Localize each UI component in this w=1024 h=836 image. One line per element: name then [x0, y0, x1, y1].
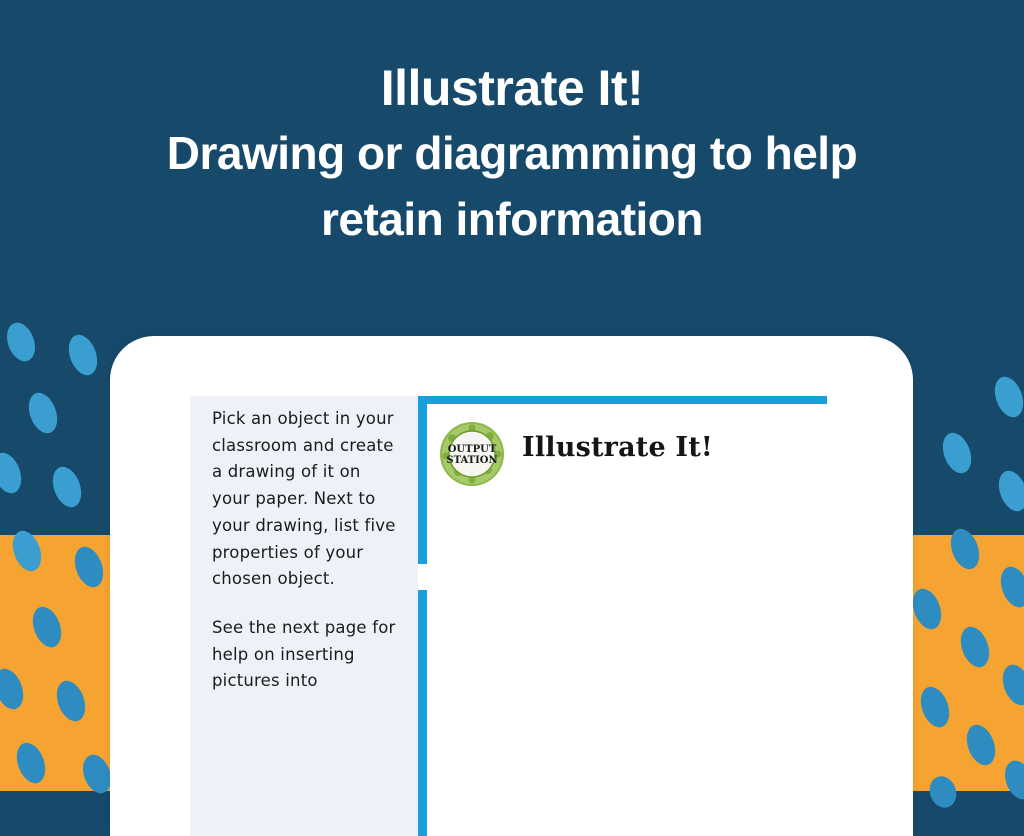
page-title: Illustrate It!	[0, 62, 1024, 115]
document-preview[interactable]: Pick an object in your classroom and cre…	[190, 396, 850, 836]
document-sidebar: Pick an object in your classroom and cre…	[190, 396, 418, 836]
slide-title-block: Illustrate It! Drawing or diagramming to…	[0, 62, 1024, 247]
page-subtitle-line-1: Drawing or diagramming to help	[0, 115, 1024, 181]
svg-text:OUTPUT: OUTPUT	[448, 444, 497, 455]
accent-bar-vertical	[418, 396, 427, 836]
accent-bar-gap	[418, 564, 427, 590]
document-heading: Illustrate It!	[522, 432, 713, 463]
svg-text:STATION: STATION	[446, 455, 497, 466]
page-subtitle-line-2: retain information	[0, 181, 1024, 247]
device-frame: Pick an object in your classroom and cre…	[110, 336, 913, 836]
instructions-paragraph-2: See the next page for help on inserting …	[212, 615, 398, 695]
accent-bar-horizontal	[418, 396, 827, 404]
document-header: OUTPUT STATION Illustrate It!	[438, 418, 838, 498]
instructions-paragraph-1: Pick an object in your classroom and cre…	[212, 406, 398, 593]
output-station-seal-icon: OUTPUT STATION	[438, 420, 506, 488]
